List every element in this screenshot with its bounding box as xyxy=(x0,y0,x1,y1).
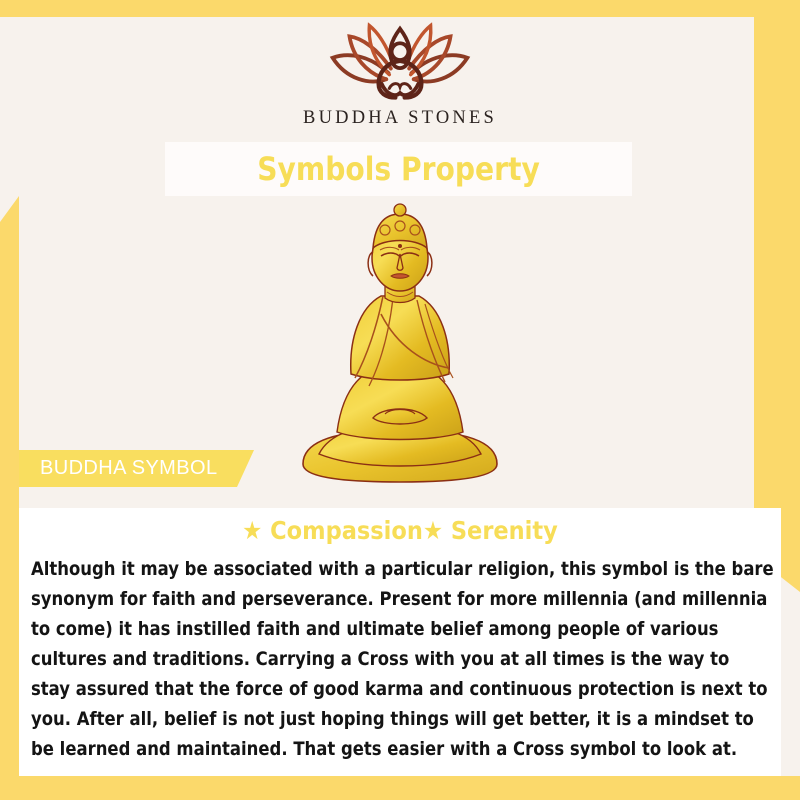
content-paragraph: Although it may be associated with a par… xyxy=(31,555,774,765)
golden-buddha-statue-icon xyxy=(285,196,515,496)
section-tag-buddha-symbol: BUDDHA SYMBOL xyxy=(19,450,254,487)
content-subtitle: ★ Compassion★ Serenity xyxy=(57,516,743,545)
frame-bottom-band xyxy=(0,776,800,800)
frame-left-bar xyxy=(0,196,19,800)
brand-name: BUDDHA STONES xyxy=(303,108,497,129)
section-tag-label: BUDDHA SYMBOL xyxy=(19,457,217,480)
title-panel: Symbols Property xyxy=(165,142,632,196)
page-title: Symbols Property xyxy=(257,150,540,188)
lotus-meditation-icon xyxy=(315,18,485,106)
content-panel: ★ Compassion★ Serenity Although it may b… xyxy=(19,508,781,776)
frame-top-band xyxy=(0,0,800,17)
brand-header: BUDDHA STONES xyxy=(0,18,800,138)
